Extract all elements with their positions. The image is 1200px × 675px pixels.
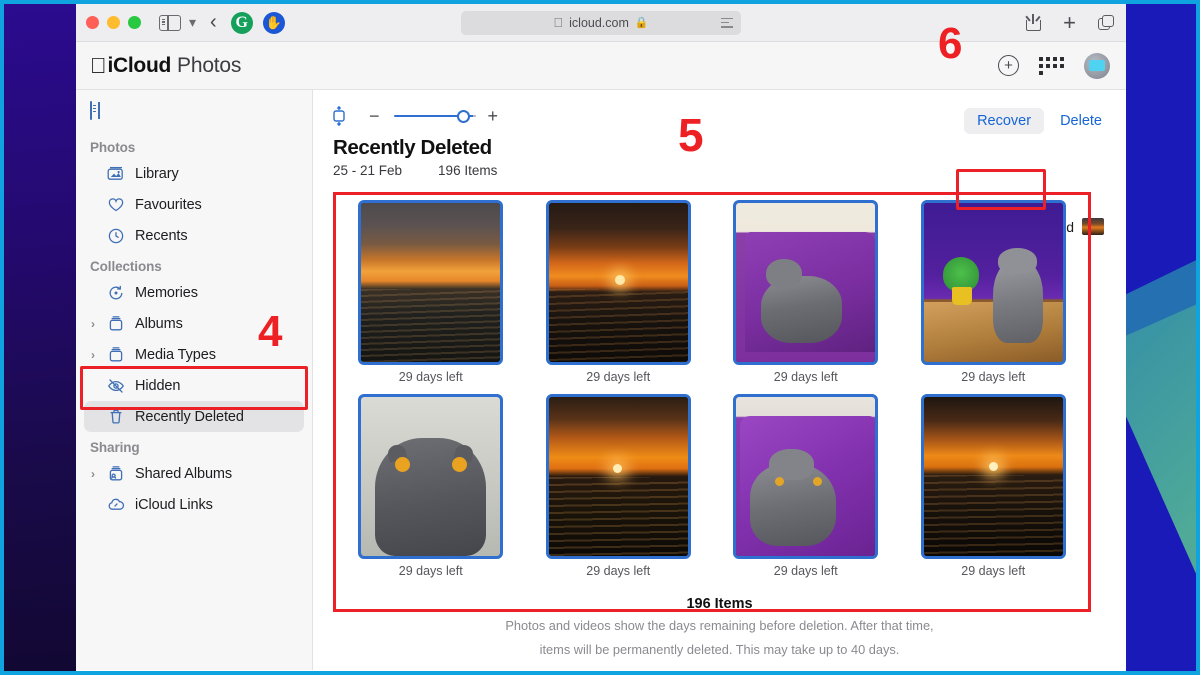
browser-window: ▾ ‹ G ✋  icloud.com 🔒 +  iCloud Photos… <box>76 4 1126 671</box>
wallpaper-right <box>1126 4 1196 671</box>
grammarly-extension-icon[interactable]: G <box>231 12 253 34</box>
toolbar-right-actions: + <box>1026 12 1114 34</box>
photo-days-left-label: 29 days left <box>586 564 650 578</box>
zoom-slider[interactable] <box>394 109 474 123</box>
shared-album-icon <box>106 464 125 483</box>
photo-thumbnail[interactable] <box>358 394 503 559</box>
slider-knob[interactable] <box>457 110 470 123</box>
footer-note-line1: Photos and videos show the days remainin… <box>313 617 1126 636</box>
photo-cell[interactable]: 29 days left <box>337 394 525 578</box>
chevron-right-icon[interactable]: › <box>91 348 95 362</box>
item-count-label: 196 Items <box>438 163 497 178</box>
sidebar-panel-icon[interactable] <box>90 101 92 120</box>
new-tab-icon[interactable]: + <box>1063 12 1076 34</box>
sidebar-item-hidden[interactable]: Hidden <box>84 370 304 401</box>
photo-cell[interactable]: 29 days left <box>337 200 525 384</box>
app-body: Photos Library Favourites <box>76 90 1126 670</box>
app-grid-icon[interactable] <box>1039 57 1064 75</box>
close-window-button[interactable] <box>86 16 99 29</box>
photo-days-left-label: 29 days left <box>961 370 1025 384</box>
photo-cell[interactable]: 29 days left <box>525 200 713 384</box>
sidebar-item-icloud-links[interactable]: iCloud Links <box>84 489 304 520</box>
photo-days-left-label: 29 days left <box>399 370 463 384</box>
chevron-right-icon[interactable]: › <box>91 467 95 481</box>
album-icon <box>106 314 125 333</box>
sidebar-toggle-icon[interactable] <box>159 15 181 31</box>
content-scrollbar[interactable] <box>1116 260 1123 670</box>
annotation-number-5: 5 <box>678 112 704 158</box>
chevron-right-icon[interactable]: › <box>91 317 95 331</box>
sidebar-toggle-row[interactable] <box>76 100 312 132</box>
trash-icon <box>106 407 125 426</box>
zoom-in-button[interactable]: + <box>488 107 499 125</box>
sidebar-item-label: Shared Albums <box>135 466 232 482</box>
sidebar-item-library[interactable]: Library <box>84 158 304 189</box>
sidebar-item-label: Recents <box>135 228 188 244</box>
photo-days-left-label: 29 days left <box>586 370 650 384</box>
photo-thumbnail[interactable] <box>921 200 1066 365</box>
minimize-window-button[interactable] <box>107 16 120 29</box>
photo-thumbnail[interactable] <box>546 394 691 559</box>
title-block: Recently Deleted 25 - 21 Feb 196 Items <box>313 130 1126 178</box>
photo-cell[interactable]: 29 days left <box>900 394 1088 578</box>
sidebar-section-sharing: Sharing <box>76 432 312 458</box>
photo-days-left-label: 29 days left <box>399 564 463 578</box>
sidebar-item-label: Memories <box>135 285 198 301</box>
photo-thumbnail[interactable] <box>546 200 691 365</box>
recover-button[interactable]: Recover <box>964 108 1044 134</box>
wallpaper-band <box>1126 280 1196 671</box>
sidebar-item-label: Favourites <box>135 197 202 213</box>
sidebar-item-recently-deleted[interactable]: Recently Deleted <box>84 401 304 432</box>
annotation-number-6: 6 <box>938 22 962 66</box>
brand-label: iCloud <box>108 54 172 78</box>
content-area: − + Recover Delete Recently Deleted 25 -… <box>313 90 1126 670</box>
sidebar-item-label: Hidden <box>135 378 180 394</box>
eye-slash-icon <box>106 376 125 395</box>
photo-thumbnail[interactable] <box>733 394 878 559</box>
add-circle-icon[interactable]: + <box>998 55 1019 76</box>
chevron-down-icon[interactable]: ▾ <box>189 14 196 31</box>
footer-item-count: 196 Items <box>313 596 1126 612</box>
wallpaper-left <box>4 4 76 671</box>
photo-cell[interactable]: 29 days left <box>712 394 900 578</box>
address-bar[interactable]:  icloud.com 🔒 <box>461 11 741 35</box>
sidebar: Photos Library Favourites <box>76 90 313 670</box>
photo-days-left-label: 29 days left <box>774 564 838 578</box>
sidebar-section-photos: Photos <box>76 132 312 158</box>
library-icon <box>106 164 125 183</box>
apple-logo-icon:  <box>553 15 563 30</box>
icloud-link-icon <box>106 495 125 514</box>
delete-button[interactable]: Delete <box>1058 108 1104 134</box>
photo-grid: 29 days left 29 days left 29 days left 2… <box>333 192 1091 586</box>
footer-note-line2: items will be permanently deleted. This … <box>313 641 1126 660</box>
memories-icon <box>106 283 125 302</box>
sidebar-item-memories[interactable]: Memories <box>84 277 304 308</box>
sidebar-item-label: Recently Deleted <box>135 409 244 425</box>
grid-footer: 196 Items Photos and videos show the day… <box>313 596 1126 659</box>
album-icon <box>106 345 125 364</box>
photo-cell[interactable]: 29 days left <box>525 394 713 578</box>
annotation-number-4: 4 <box>258 310 282 354</box>
icloud-header-actions: + <box>998 53 1110 79</box>
photo-grid-wrapper: 29 days left 29 days left 29 days left 2… <box>333 192 1091 586</box>
photo-cell[interactable]: 29 days left <box>712 200 900 384</box>
sidebar-section-collections: Collections <box>76 251 312 277</box>
reader-mode-icon[interactable] <box>721 18 733 28</box>
tab-overview-icon[interactable] <box>1098 15 1114 31</box>
share-icon[interactable] <box>1026 14 1041 31</box>
photo-days-left-label: 29 days left <box>961 564 1025 578</box>
heart-icon <box>106 195 125 214</box>
adblock-extension-icon[interactable]: ✋ <box>263 12 285 34</box>
sidebar-item-recents[interactable]: Recents <box>84 220 304 251</box>
sidebar-item-label: Albums <box>135 316 183 332</box>
lock-icon: 🔒 <box>635 16 649 29</box>
window-controls <box>86 16 141 29</box>
apple-logo-icon:  <box>90 55 107 77</box>
sidebar-item-label: Media Types <box>135 347 216 363</box>
sidebar-item-label: iCloud Links <box>135 497 213 513</box>
sidebar-item-favourites[interactable]: Favourites <box>84 189 304 220</box>
aspect-ratio-icon[interactable] <box>331 106 347 126</box>
back-chevron-icon[interactable]: ‹ <box>210 11 217 34</box>
photo-thumbnail[interactable] <box>733 200 878 365</box>
slider-tick <box>473 115 476 117</box>
photo-thumbnail[interactable] <box>358 200 503 365</box>
photo-days-left-label: 29 days left <box>774 370 838 384</box>
account-avatar[interactable] <box>1084 53 1110 79</box>
browser-toolbar: ▾ ‹ G ✋  icloud.com 🔒 + <box>76 4 1126 42</box>
sidebar-item-shared-albums[interactable]: › Shared Albums <box>84 458 304 489</box>
app-name-label: Photos <box>177 54 241 78</box>
title-subline: 25 - 21 Feb 196 Items <box>333 163 1126 178</box>
zoom-out-button[interactable]: − <box>369 107 380 125</box>
content-actions: Recover Delete <box>964 108 1104 134</box>
sidebar-item-label: Library <box>135 166 179 182</box>
icloud-header:  iCloud Photos + <box>76 42 1126 90</box>
page-title: Recently Deleted <box>333 136 1126 160</box>
url-text: icloud.com <box>569 16 629 30</box>
clock-icon <box>106 226 125 245</box>
photo-cell[interactable]: 29 days left <box>900 200 1088 384</box>
date-range-label: 25 - 21 Feb <box>333 163 402 178</box>
photo-thumbnail[interactable] <box>921 394 1066 559</box>
maximize-window-button[interactable] <box>128 16 141 29</box>
icloud-brand[interactable]:  iCloud Photos <box>90 54 241 78</box>
